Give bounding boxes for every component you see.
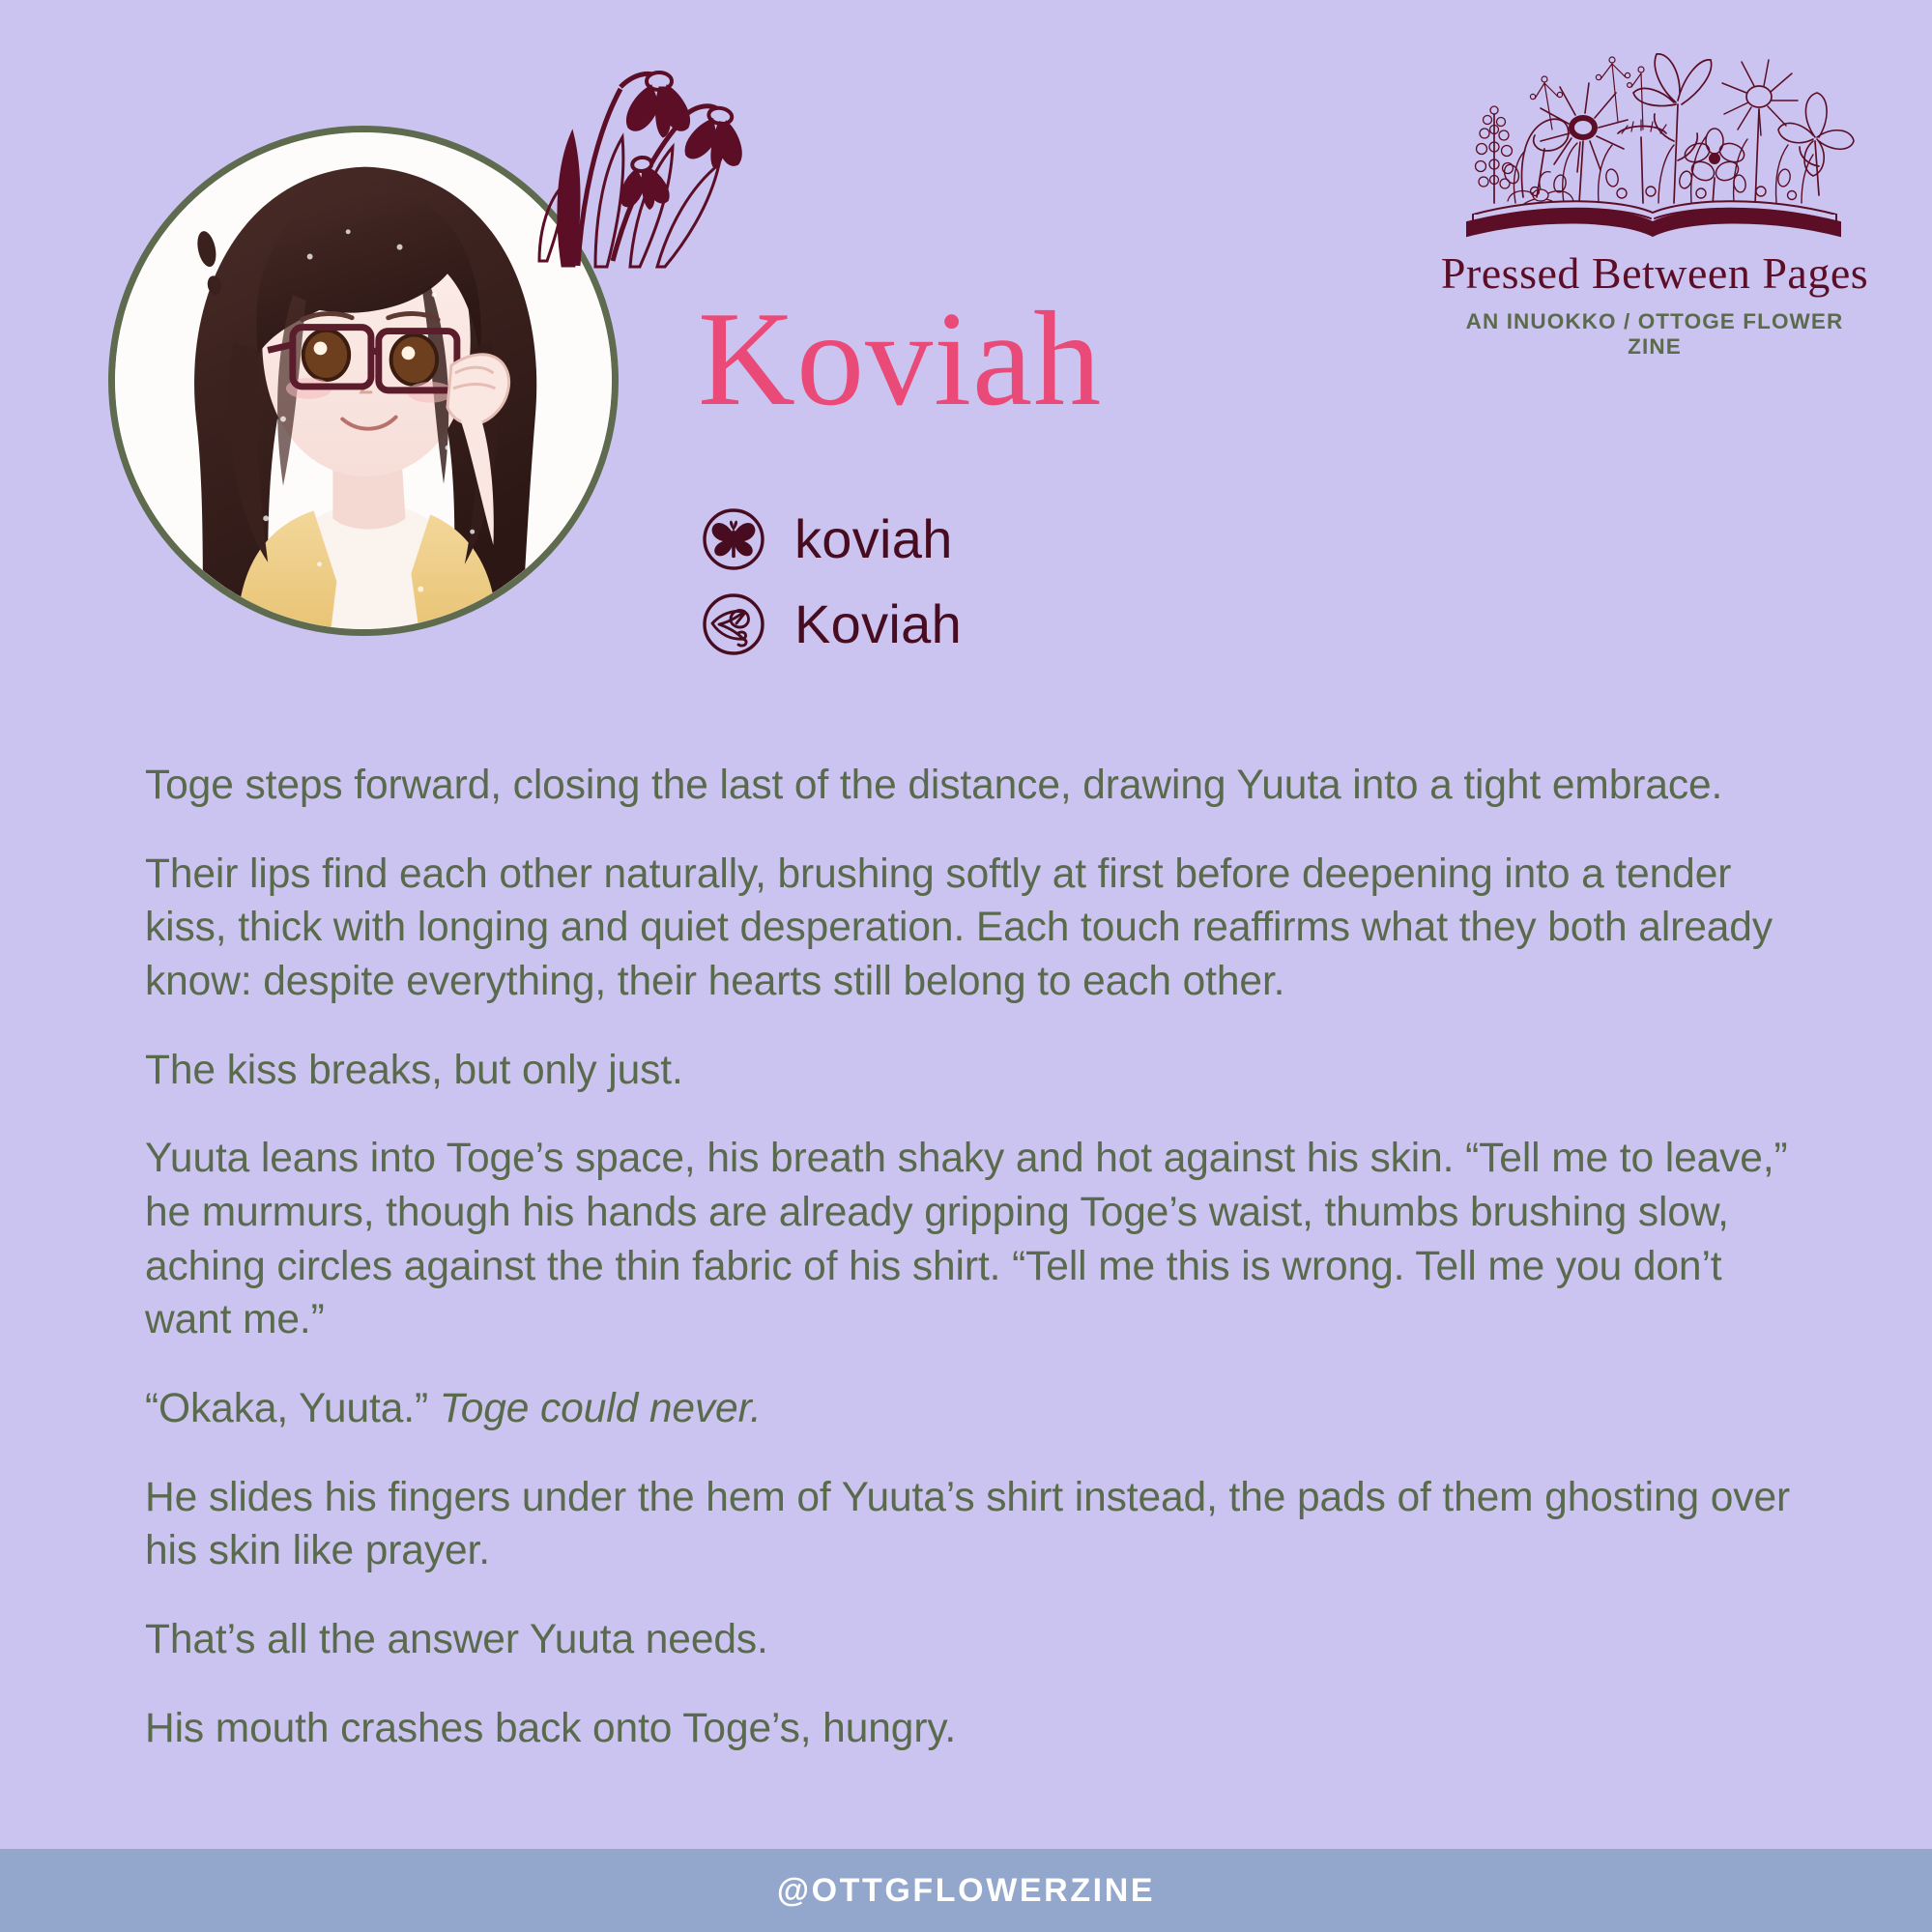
excerpt-paragraph: That’s all the answer Yuuta needs. <box>145 1613 1805 1667</box>
handle-row-ao3[interactable]: Koviah <box>702 592 962 656</box>
footer-bar: @OTTGFLOWERZINE <box>0 1849 1932 1932</box>
zine-logo: Pressed Between Pages AN INUOKKO / OTTOG… <box>1437 14 1872 360</box>
excerpt-paragraph: His mouth crashes back onto Toge’s, hung… <box>145 1702 1805 1756</box>
contributor-handles: koviah Koviah <box>702 507 962 656</box>
excerpt-quote: “Okaka, Yuuta.” <box>145 1386 440 1431</box>
contributor-name: Koviah <box>698 292 1102 427</box>
excerpt-paragraph: Toge steps forward, closing the last of … <box>145 759 1805 813</box>
open-book-with-wildflowers-icon <box>1452 14 1858 257</box>
footer-handle: @OTTGFLOWERZINE <box>777 1872 1155 1910</box>
story-excerpt: Toge steps forward, closing the last of … <box>145 759 1805 1755</box>
excerpt-paragraph: Their lips find each other naturally, br… <box>145 848 1805 1009</box>
zine-subtitle: AN INUOKKO / OTTOGE FLOWER ZINE <box>1437 309 1872 360</box>
excerpt-paragraph: The kiss breaks, but only just. <box>145 1044 1805 1098</box>
handle-text-ao3: Koviah <box>794 597 962 651</box>
zine-name: Pressed Between Pages <box>1437 251 1872 297</box>
excerpt-paragraph: He slides his fingers under the hem of Y… <box>145 1471 1805 1578</box>
handle-row-bluesky[interactable]: koviah <box>702 507 962 571</box>
handle-text-bluesky: koviah <box>794 512 953 566</box>
zine-contributor-page: Pressed Between Pages AN INUOKKO / OTTOG… <box>0 0 1932 1932</box>
ao3-icon <box>702 592 765 656</box>
avatar <box>108 126 619 636</box>
excerpt-paragraph: Yuuta leans into Toge’s space, his breat… <box>145 1132 1805 1347</box>
butterfly-icon <box>702 507 765 571</box>
excerpt-paragraph-mixed: “Okaka, Yuuta.” Toge could never. <box>145 1382 1805 1436</box>
avatar-illustration-girl-with-glasses <box>115 132 612 629</box>
excerpt-italic: Toge could never. <box>440 1386 762 1431</box>
